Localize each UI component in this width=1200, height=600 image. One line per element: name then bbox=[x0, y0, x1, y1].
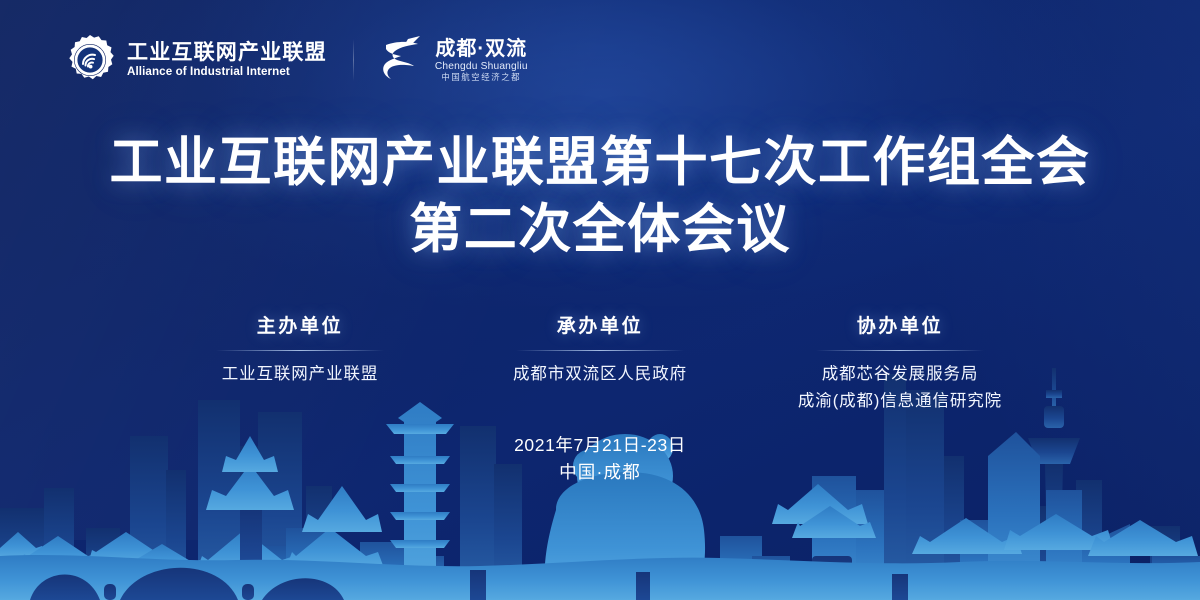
airplane-swoosh-icon bbox=[380, 36, 424, 84]
organizer-name: 成都芯谷发展服务局 bbox=[798, 363, 1002, 385]
organizer-role-label: 协办单位 bbox=[857, 316, 943, 339]
organizer-name: 成都市双流区人民政府 bbox=[513, 363, 687, 385]
organizer-columns: 主办单位 工业互联网产业联盟 承办单位 成都市双流区人民政府 协办单位 成都芯谷… bbox=[0, 316, 1200, 412]
event-title: 工业互联网产业联盟第十七次工作组全会 第二次全体会议 bbox=[0, 130, 1200, 264]
event-title-line-2: 第二次全体会议 bbox=[0, 197, 1200, 264]
organizer-role-label: 主办单位 bbox=[257, 316, 343, 339]
shuangliu-tagline: 中国航空经济之都 bbox=[441, 73, 521, 82]
shuangliu-name-cn: 成都·双流 bbox=[435, 38, 527, 60]
alliance-logo: 工业互联网产业联盟 Alliance of Industrial Interne… bbox=[64, 34, 327, 86]
organizer-rule bbox=[516, 350, 684, 351]
organizer-name: 工业互联网产业联盟 bbox=[222, 363, 379, 385]
ground-band bbox=[0, 555, 1200, 600]
alliance-logo-text: 工业互联网产业联盟 Alliance of Industrial Interne… bbox=[127, 42, 327, 78]
event-place: 中国·成都 bbox=[0, 459, 1200, 486]
event-title-line-1: 工业互联网产业联盟第十七次工作组全会 bbox=[0, 130, 1200, 197]
organizer-column-undertaker: 承办单位 成都市双流区人民政府 bbox=[450, 316, 750, 412]
shuangliu-name-en: Chengdu Shuangliu bbox=[435, 61, 528, 72]
shuangliu-logo-text: 成都·双流 Chengdu Shuangliu 中国航空经济之都 bbox=[435, 38, 528, 82]
event-date: 2021年7月21日-23日 bbox=[0, 432, 1200, 459]
organizer-role-label: 承办单位 bbox=[557, 316, 643, 339]
event-date-place: 2021年7月21日-23日 中国·成都 bbox=[0, 432, 1200, 486]
lotus-pavilion-icon bbox=[286, 486, 384, 568]
arch-bridge-icon bbox=[30, 568, 344, 600]
left-temple-roofs bbox=[0, 532, 204, 570]
logo-divider bbox=[353, 39, 354, 81]
conference-banner: 工业互联网产业联盟 Alliance of Industrial Interne… bbox=[0, 0, 1200, 600]
plinth-c bbox=[892, 574, 908, 600]
gear-wifi-icon bbox=[64, 34, 116, 86]
alliance-name-cn: 工业互联网产业联盟 bbox=[127, 42, 327, 64]
organizer-name: 成渝(成都)信息通信研究院 bbox=[798, 390, 1002, 412]
organizer-column-host: 主办单位 工业互联网产业联盟 bbox=[150, 316, 450, 412]
plinth-b bbox=[636, 572, 650, 600]
organizer-name-list: 工业互联网产业联盟 bbox=[222, 363, 379, 385]
right-temple-roofs bbox=[772, 484, 1198, 600]
plinth-a bbox=[470, 570, 486, 600]
shuangliu-logo: 成都·双流 Chengdu Shuangliu 中国航空经济之都 bbox=[380, 36, 528, 84]
organizer-name-list: 成都市双流区人民政府 bbox=[513, 363, 687, 385]
organizer-rule bbox=[816, 350, 984, 351]
header-logos: 工业互联网产业联盟 Alliance of Industrial Interne… bbox=[64, 34, 528, 86]
organizer-rule bbox=[216, 350, 384, 351]
organizer-name-list: 成都芯谷发展服务局 成渝(成都)信息通信研究院 bbox=[798, 363, 1002, 413]
alliance-name-en: Alliance of Industrial Internet bbox=[127, 66, 327, 78]
organizer-column-coorganizer: 协办单位 成都芯谷发展服务局 成渝(成都)信息通信研究院 bbox=[750, 316, 1050, 412]
